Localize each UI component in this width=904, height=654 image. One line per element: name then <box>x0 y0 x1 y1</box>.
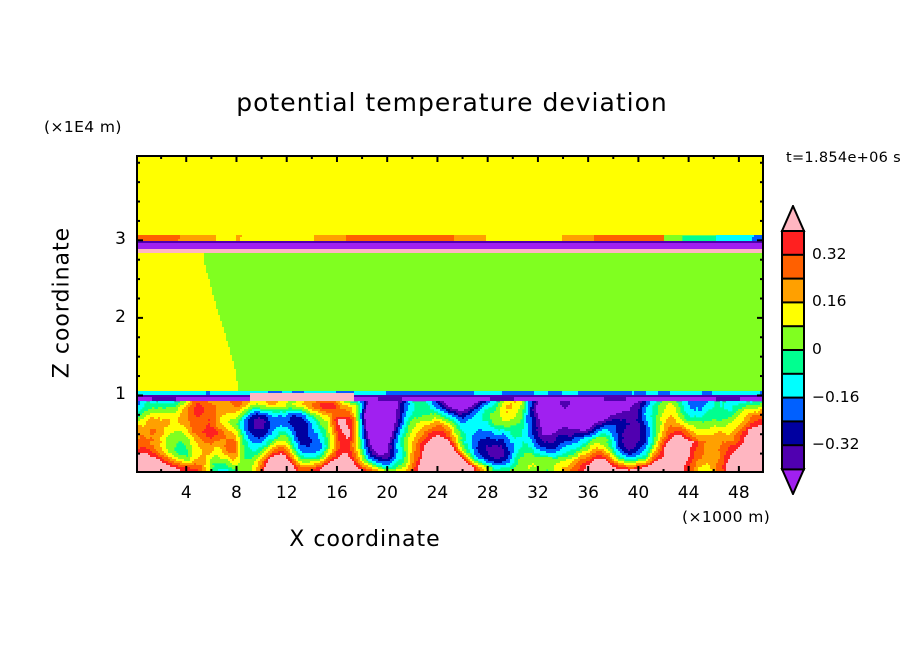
x-axis-unit-label: (×1000 m) <box>682 508 770 526</box>
colorbar-tick-label: 0.16 <box>812 292 847 310</box>
chart-title: potential temperature deviation <box>0 88 904 117</box>
y-tick-label: 3 <box>100 229 126 249</box>
colorbar-tick-label: 0 <box>812 340 822 358</box>
x-tick-label: 28 <box>468 483 508 503</box>
x-tick-label: 48 <box>719 483 759 503</box>
x-tick-label: 8 <box>216 483 256 503</box>
y-axis-title: Z coordinate <box>50 203 75 403</box>
y-tick-label: 1 <box>100 384 126 404</box>
x-tick-label: 36 <box>568 483 608 503</box>
x-tick-label: 16 <box>317 483 357 503</box>
y-axis-unit-label: (×1E4 m) <box>44 118 122 136</box>
x-tick-label: 12 <box>267 483 307 503</box>
y-tick-label: 2 <box>100 307 126 327</box>
timestamp-label: t=1.854e+06 s <box>786 150 901 166</box>
x-tick-label: 44 <box>669 483 709 503</box>
colorbar-tick-label: −0.16 <box>812 388 860 406</box>
figure-canvas: potential temperature deviation (×1E4 m)… <box>0 0 904 654</box>
colorbar-tick-label: 0.32 <box>812 245 847 263</box>
x-tick-label: 20 <box>367 483 407 503</box>
contour-plot <box>136 155 764 473</box>
x-tick-label: 24 <box>417 483 457 503</box>
x-tick-label: 40 <box>618 483 658 503</box>
x-axis-title: X coordinate <box>0 527 730 552</box>
x-tick-label: 4 <box>166 483 206 503</box>
colorbar-tick-label: −0.32 <box>812 435 860 453</box>
x-tick-label: 32 <box>518 483 558 503</box>
colorbar <box>777 205 809 495</box>
